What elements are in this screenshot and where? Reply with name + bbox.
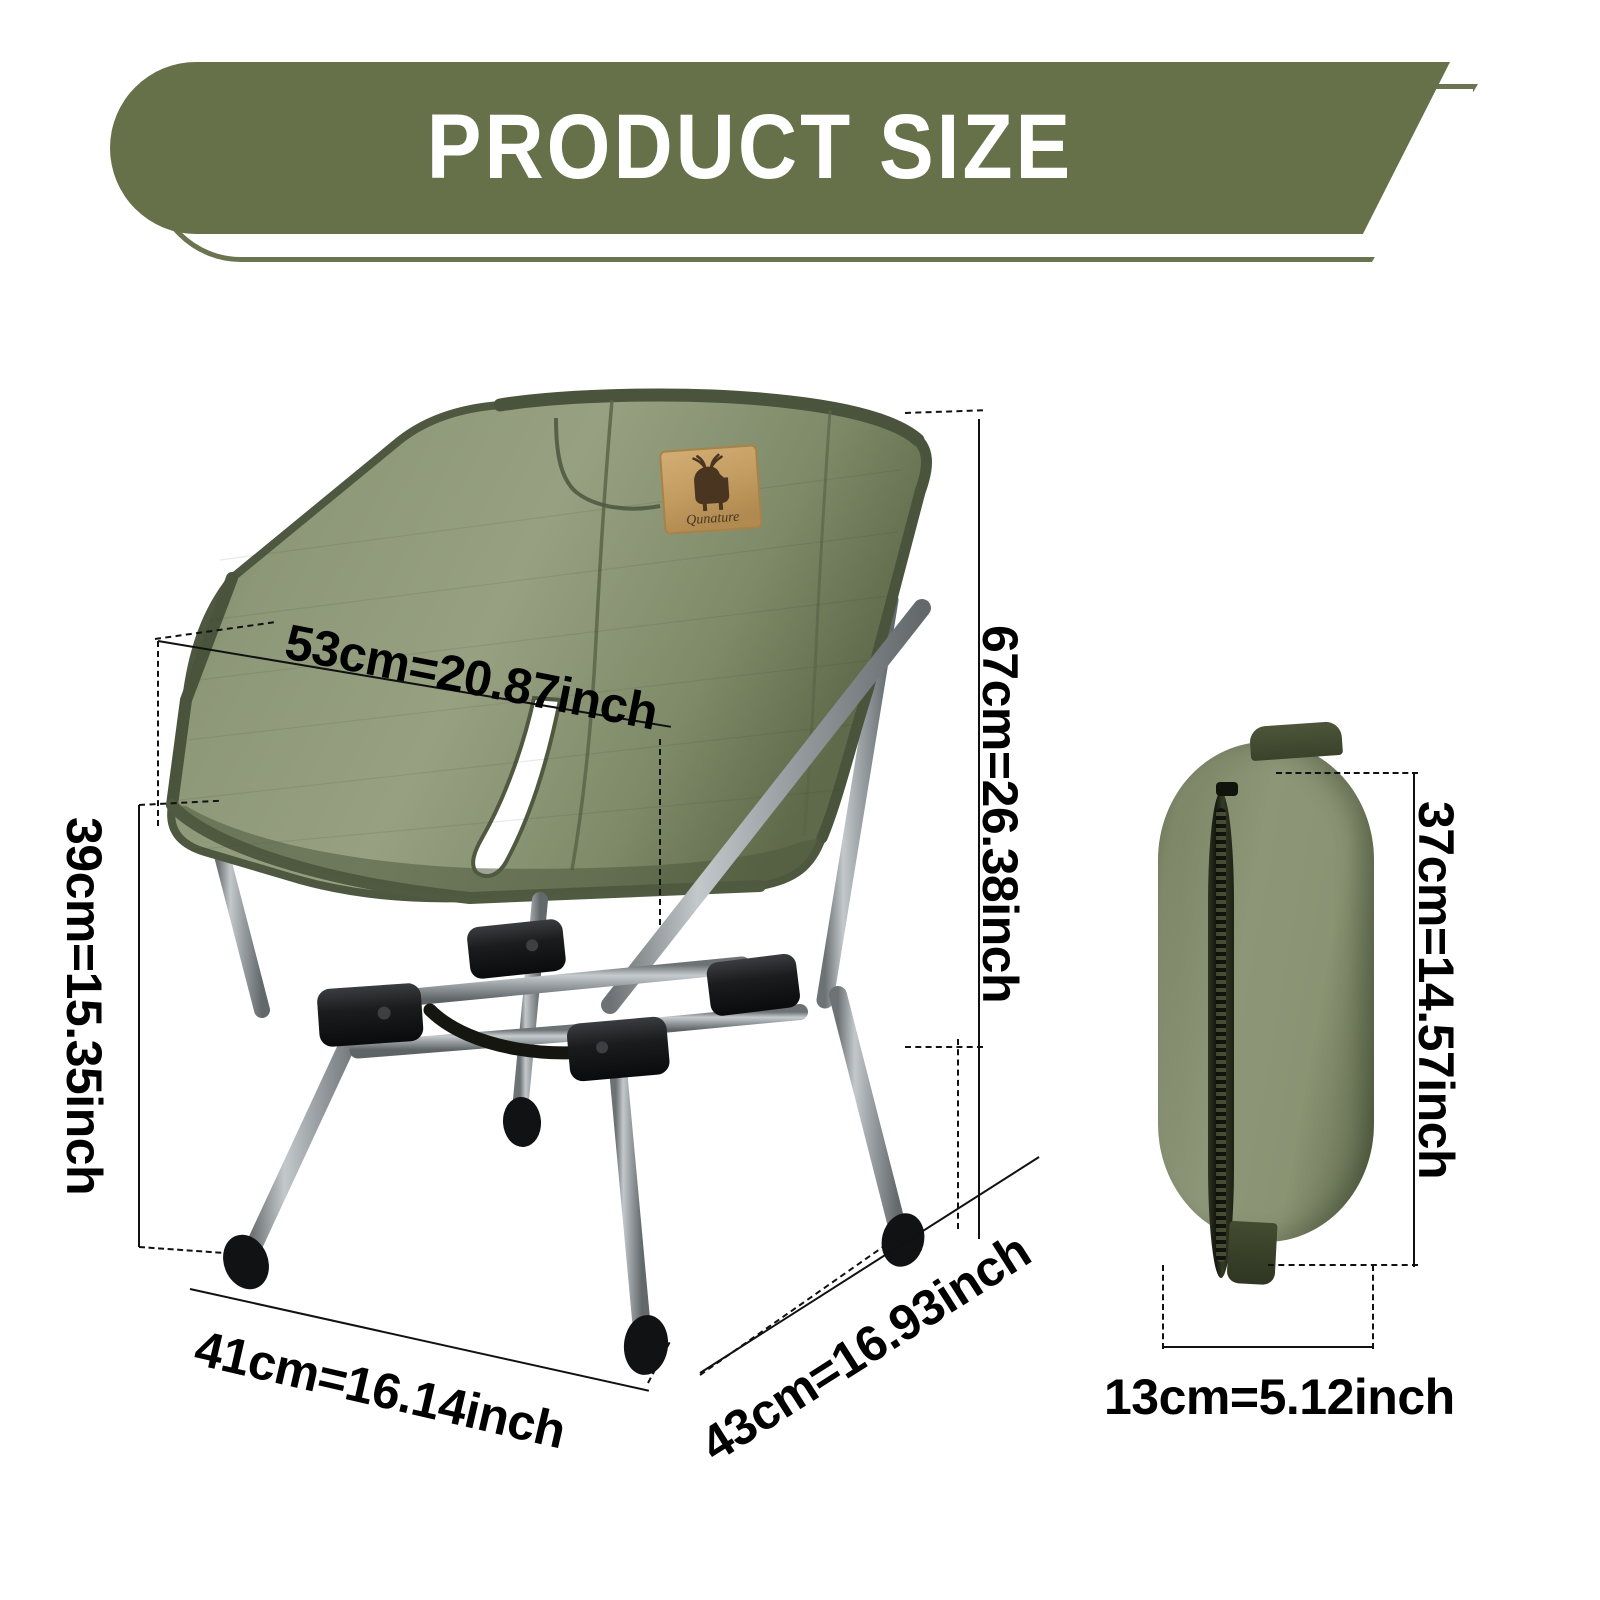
bag-body bbox=[1158, 742, 1374, 1242]
dim-label-total-height: 67cm=26.38inch bbox=[971, 625, 1029, 1003]
dimline-total-height-lower bbox=[978, 1049, 980, 1239]
dim-label-bag-height: 37cm=14.57inch bbox=[1407, 801, 1465, 1179]
chair-svg: Qunature bbox=[0, 0, 1100, 1450]
brand-patch: Qunature bbox=[660, 445, 761, 533]
leader-bagheight-bottom bbox=[1268, 1264, 1418, 1266]
leader-seatwidth-right bbox=[659, 739, 661, 925]
dimline-bag-width bbox=[1163, 1346, 1373, 1348]
leader-bagwidth-left bbox=[1162, 1265, 1164, 1349]
leader-seatwidth-vert bbox=[157, 641, 159, 826]
bag-zipper-pull-icon bbox=[1216, 782, 1238, 796]
leader-basedepth-up bbox=[957, 1039, 959, 1229]
dim-label-seat-height: 39cm=15.35inch bbox=[55, 817, 113, 1195]
bag-zipper-teeth bbox=[1216, 808, 1226, 1262]
leader-height-bottom bbox=[905, 1046, 983, 1048]
bag-handle-strap-bottom bbox=[1226, 1221, 1277, 1285]
dimline-seat-height bbox=[138, 805, 140, 1247]
bag-zipper bbox=[1208, 792, 1234, 1278]
product-size-infographic: PRODUCT SIZE bbox=[0, 0, 1600, 1600]
chair-illustration: Qunature bbox=[0, 0, 1100, 1450]
leader-bagheight-top bbox=[1276, 772, 1418, 774]
dim-label-bag-width: 13cm=5.12inch bbox=[1104, 1368, 1455, 1426]
bag-handle-strap-top bbox=[1249, 721, 1343, 761]
leader-bagwidth-right bbox=[1372, 1265, 1374, 1349]
chair-feet bbox=[215, 1096, 930, 1377]
